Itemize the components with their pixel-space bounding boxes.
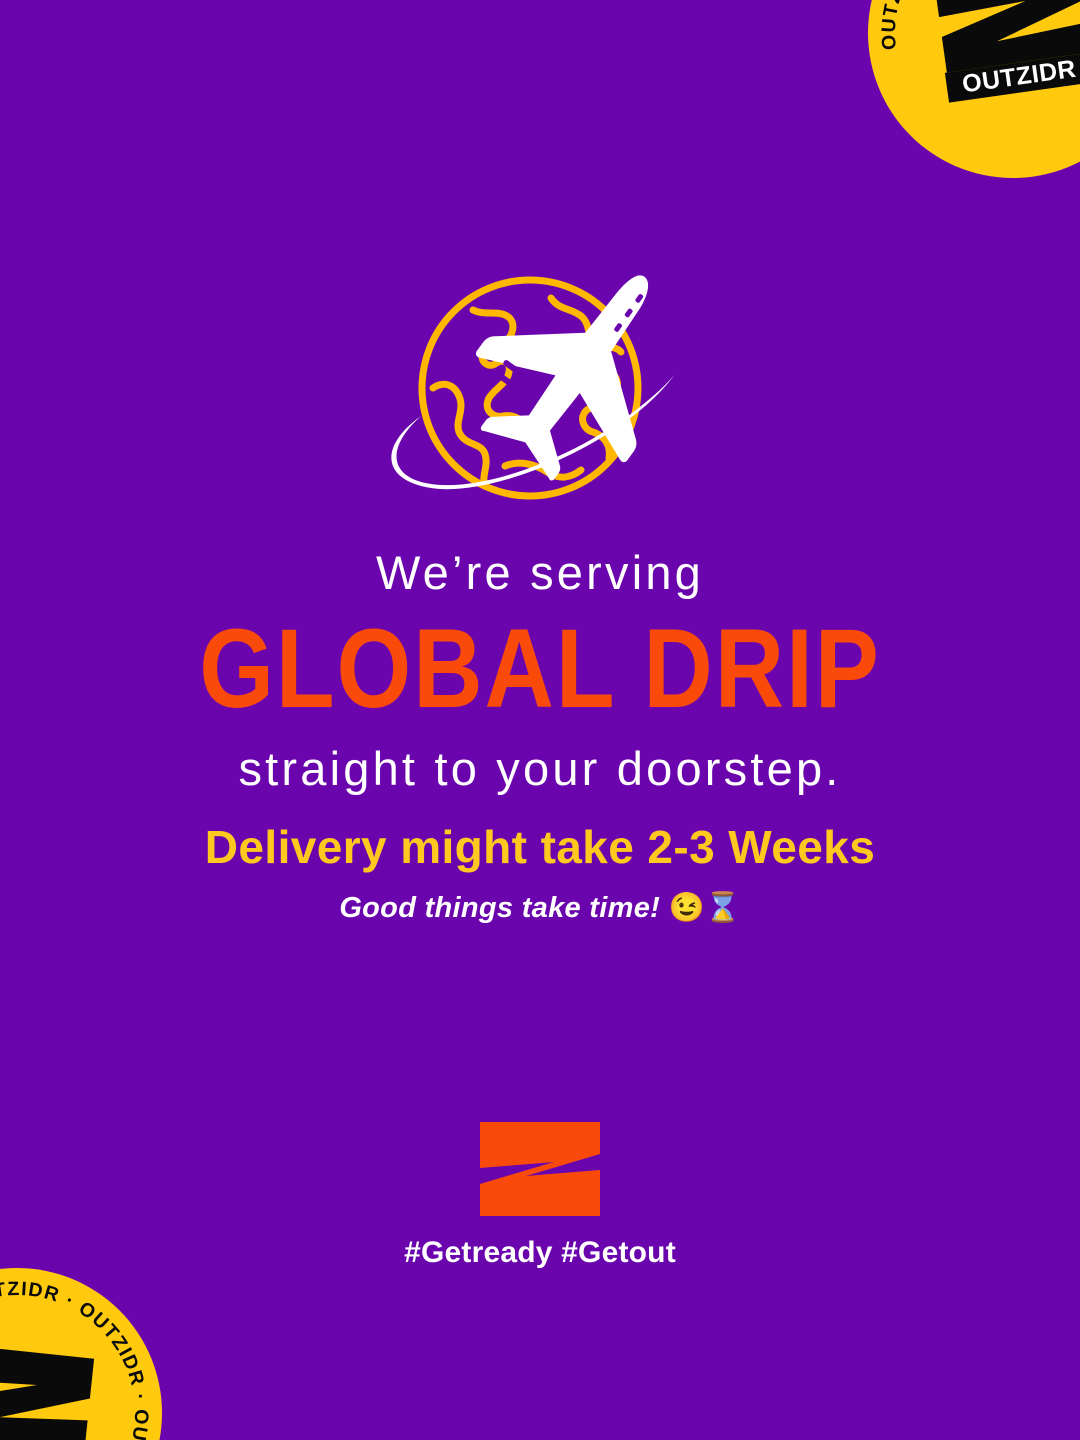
delivery-subnote: Good things take time! 😉⌛ (0, 891, 1080, 925)
headline-eyebrow: We’re serving (0, 545, 1080, 600)
hero-illustration (0, 270, 1080, 510)
footer-block: #Getready #Getout (0, 1120, 1080, 1270)
brand-badge-top-right: OUTZIDR · OUTZIDR · OUTZIDR · OUTZIDR · … (849, 0, 1080, 197)
delivery-notice: Delivery might take 2-3 Weeks (0, 820, 1080, 875)
wink-hourglass-emoji: 😉⌛ (668, 892, 740, 924)
brand-badge-bottom-left: OUTZIDR · OUTZIDR · OUTZIDR · OUTZIDR · … (0, 1254, 176, 1440)
headline-main: GLOBAL DRIP (5, 606, 1074, 732)
footer-hashtags: #Getready #Getout (404, 1236, 676, 1270)
headline-tagline: straight to your doorstep. (0, 741, 1080, 796)
delivery-block: Delivery might take 2-3 Weeks Good thing… (0, 820, 1080, 925)
delivery-subnote-text: Good things take time! (339, 892, 660, 924)
badge-z-mark-bottom (0, 1344, 94, 1440)
headline-block: We’re serving GLOBAL DRIP straight to yo… (0, 545, 1080, 797)
promo-poster: OUTZIDR · OUTZIDR · OUTZIDR · OUTZIDR · … (0, 0, 1080, 1440)
brand-z-logo (478, 1120, 602, 1218)
globe-airplane-icon (355, 270, 725, 510)
badge-logo-top: OUTZIDR (926, 0, 1080, 109)
badge-logo-bottom: OUTZIDR (0, 1339, 102, 1440)
